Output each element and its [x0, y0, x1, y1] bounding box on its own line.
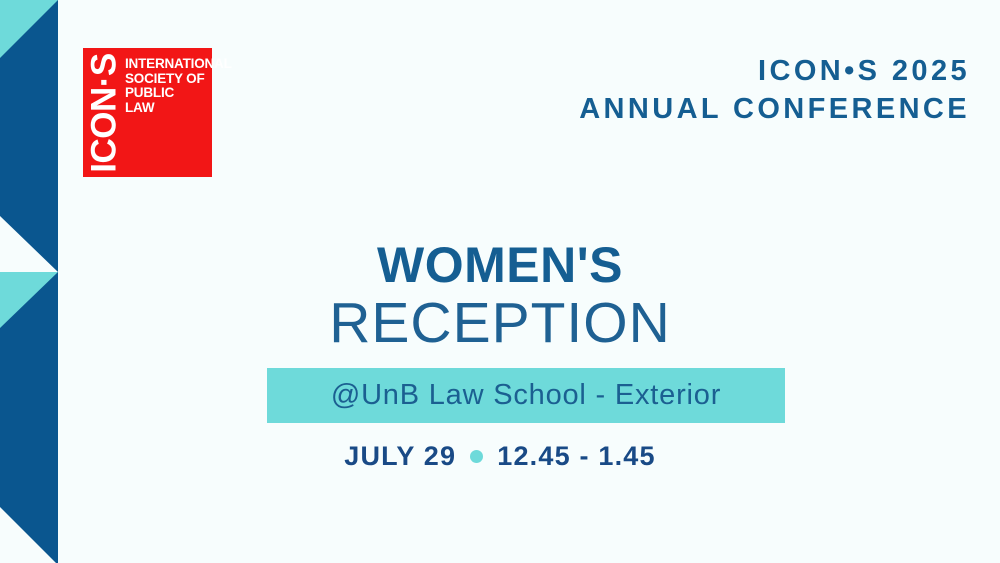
logo-vertical-mark: ICON·S: [83, 48, 125, 177]
event-title-block: WOMEN'S RECEPTION: [0, 238, 1000, 354]
venue-band: @UnB Law School - Exterior: [267, 368, 785, 423]
bullet-separator-icon: [470, 450, 483, 463]
event-date: JULY 29: [344, 441, 456, 472]
event-time: 12.45 - 1.45: [497, 441, 656, 472]
conference-header: ICON•S 2025 ANNUAL CONFERENCE: [579, 52, 970, 128]
logo-line-3: PUBLIC: [125, 86, 232, 101]
logo-line-4: LAW: [125, 101, 232, 116]
venue-text: @UnB Law School - Exterior: [331, 379, 721, 412]
logo-line-2: SOCIETY OF: [125, 72, 232, 87]
icons-logo: ICON·S INTERNATIONAL SOCIETY OF PUBLIC L…: [83, 48, 212, 177]
event-title-primary: WOMEN'S: [0, 238, 1000, 292]
conference-subtitle: ANNUAL CONFERENCE: [579, 90, 970, 128]
logo-line-1: INTERNATIONAL: [125, 57, 232, 72]
logo-wordmark: INTERNATIONAL SOCIETY OF PUBLIC LAW: [125, 48, 236, 115]
event-title-secondary: RECEPTION: [0, 292, 1000, 354]
date-time-row: JULY 29 12.45 - 1.45: [0, 441, 1000, 472]
event-slide: ICON·S INTERNATIONAL SOCIETY OF PUBLIC L…: [0, 0, 1000, 563]
conference-name: ICON•S 2025: [579, 52, 970, 90]
logo-vertical-text: ICON·S: [87, 53, 122, 173]
